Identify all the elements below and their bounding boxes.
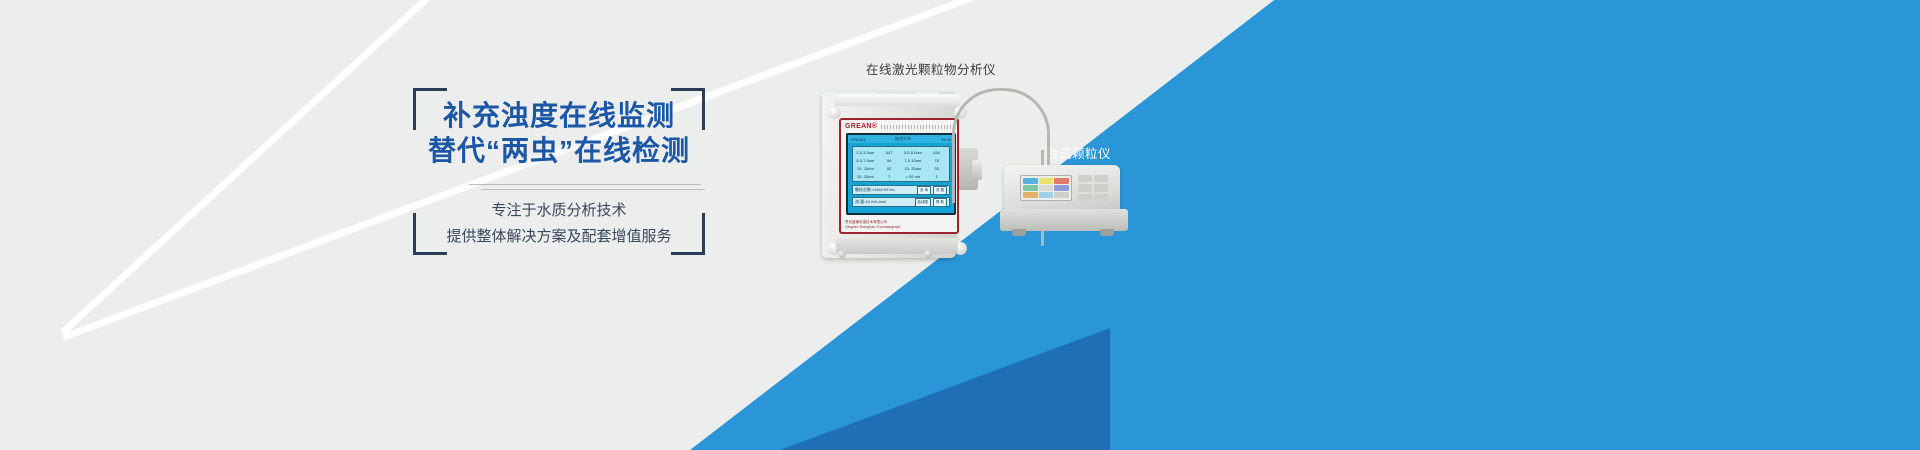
lcd-cell: 10- 15um <box>854 165 877 172</box>
headline-block: 补充浊度在线监测 替代“两虫”在线检测 专注于水质分析技术 提供整体解决方案及配… <box>413 88 705 255</box>
benchtop-foot-left <box>1012 229 1026 236</box>
benchtop-product-label: 台式颗粒仪 <box>1046 143 1111 162</box>
lcd-cell: 1 <box>925 173 948 180</box>
bracket-top-right-horizontal <box>671 88 705 91</box>
analyzer-base <box>836 238 958 254</box>
display-tile <box>1039 178 1054 184</box>
lcd-query-button[interactable]: 查 询 <box>917 186 931 195</box>
bracket-bottom-left-horizontal <box>413 252 447 255</box>
lcd-title-bar: GREAN 粒径分布 09:46 <box>848 135 954 143</box>
lcd-help-button[interactable]: 帮 助 <box>933 198 947 207</box>
display-tile <box>1054 178 1069 184</box>
benchtop-foot-right <box>1100 229 1114 236</box>
analyzer-enclosure: GREAN® GREAN 粒径分布 09:46 2.0-3.0um 447 3.… <box>822 92 956 258</box>
display-tile <box>1023 192 1038 198</box>
keypad-key[interactable] <box>1094 175 1108 182</box>
benchtop-particle-counter-image <box>1000 165 1128 245</box>
lcd-cell: 454 <box>925 149 948 156</box>
lcd-chart-button[interactable]: 曲线图 <box>915 198 932 207</box>
lcd-cell: 76 <box>925 157 948 164</box>
online-laser-particle-analyzer-image: GREAN® GREAN 粒径分布 09:46 2.0-3.0um 447 3.… <box>814 86 964 264</box>
analyzer-inlet-port <box>838 250 846 258</box>
lcd-cell: 7.0-10um <box>902 157 925 164</box>
lcd-cell: 7 <box>878 173 901 180</box>
display-tile <box>1039 192 1054 198</box>
lcd-flow-rate-row: 流 量:19.2mL/min 曲线图 帮 助 <box>852 197 950 207</box>
lcd-flow-rate-value: 流 量:19.2mL/min <box>853 199 915 205</box>
lcd-brand: GREAN <box>851 137 865 142</box>
benchtop-base <box>1000 209 1128 231</box>
keypad-key[interactable] <box>1078 184 1092 191</box>
keypad-key[interactable] <box>1094 194 1108 201</box>
subtitle-line-1: 专注于水质分析技术 <box>413 198 705 224</box>
lcd-settings-button[interactable]: 设 置 <box>933 186 947 195</box>
headline-line-2: 替代“两虫”在线检测 <box>413 133 705 168</box>
benchtop-display <box>1020 175 1072 201</box>
analyzer-latch-top-left <box>828 106 841 119</box>
keypad-key[interactable] <box>1094 184 1108 191</box>
lcd-status: 09:46 <box>941 137 951 142</box>
lcd-cell: 15- 20um <box>902 165 925 172</box>
analyzer-brand-logo: GREAN® <box>845 123 877 130</box>
analyzer-product-label: 在线激光颗粒物分析仪 <box>866 59 996 78</box>
analyzer-top-lip <box>834 94 960 106</box>
headline-line-1: 补充浊度在线监测 <box>413 98 705 133</box>
divider-rule-lower <box>481 189 705 190</box>
display-tile <box>1054 185 1069 191</box>
benchtop-chassis <box>1004 165 1120 213</box>
display-tile <box>1039 185 1054 191</box>
lcd-cell: 52 <box>878 165 901 172</box>
lcd-cell: 3.0-5.0um <box>902 149 925 156</box>
bracket-top-left-horizontal <box>413 88 447 91</box>
analyzer-manufacturer-en: Qingdao Shenghan Chromatograph <box>845 225 900 230</box>
lcd-total-count-value: 颗粒总数:1166CNT/mL <box>853 187 917 193</box>
hero-banner: 补充浊度在线监测 替代“两虫”在线检测 专注于水质分析技术 提供整体解决方案及配… <box>0 0 1920 450</box>
display-tile <box>1023 185 1038 191</box>
lcd-cell: 2.0-3.0um <box>854 149 877 156</box>
headline: 补充浊度在线监测 替代“两虫”在线检测 <box>413 98 705 168</box>
lcd-cell: 5.0-7.0um <box>854 157 877 164</box>
lcd-cell: 35 <box>925 165 948 172</box>
analyzer-manufacturer-text: 青岛盛瀚色谱技术有限公司 Qingdao Shenghan Chromatogr… <box>845 220 900 230</box>
lcd-particle-size-table: 2.0-3.0um 447 3.0-5.0um 454 5.0-7.0um 94… <box>852 146 950 182</box>
analyzer-outlet-port <box>924 250 932 258</box>
display-tile <box>1054 192 1069 198</box>
display-tile <box>1023 178 1038 184</box>
lcd-total-count-row: 颗粒总数:1166CNT/mL 查 询 设 置 <box>852 185 950 195</box>
lcd-cell: > 25 um <box>902 173 925 180</box>
keypad-key[interactable] <box>1078 175 1092 182</box>
divider-rule-upper <box>469 184 701 185</box>
analyzer-lcd-screen[interactable]: GREAN 粒径分布 09:46 2.0-3.0um 447 3.0-5.0um… <box>846 133 956 215</box>
keypad-key[interactable] <box>1078 194 1092 201</box>
bracket-bottom-right-horizontal <box>671 252 705 255</box>
analyzer-vent-grill <box>881 125 951 129</box>
benchtop-keypad[interactable] <box>1078 175 1108 201</box>
analyzer-front-panel: GREAN® GREAN 粒径分布 09:46 2.0-3.0um 447 3.… <box>839 118 959 234</box>
lcd-cell: 94 <box>878 157 901 164</box>
subtitle-line-2: 提供整体解决方案及配套增值服务 <box>413 224 705 250</box>
lcd-cell: 447 <box>878 149 901 156</box>
lcd-subtitle: 粒径分布 <box>895 136 911 142</box>
lcd-cell: 20- 25um <box>854 173 877 180</box>
